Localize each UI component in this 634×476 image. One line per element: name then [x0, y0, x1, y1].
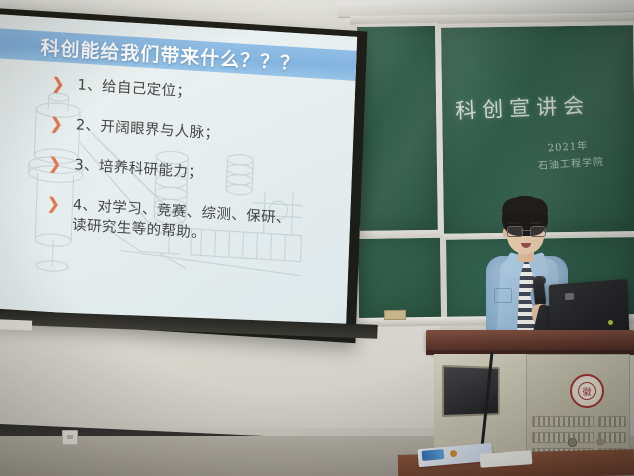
- chalk-subtext-year: 2021年: [547, 137, 588, 155]
- podium-top-surface: [426, 330, 634, 352]
- jacket-pocket-left: [494, 288, 512, 303]
- blackboard-sheen: [357, 26, 438, 231]
- slide-bullet-item: ❯ 3、培养科研能力；: [48, 154, 348, 193]
- desk-paper-accent: [422, 449, 445, 461]
- projection-screen-surface: 科创能给我们带来什么？？？ ❯ 1、给自己定位； ❯ 2、开阔眼界与人脉； ❯ …: [0, 14, 357, 330]
- chevron-right-icon: ❯: [48, 156, 62, 173]
- classroom-photo: 科创宣讲会 2021年 石油工程学院: [0, 0, 634, 476]
- slide-title: 科创能给我们带来什么？？？: [40, 32, 301, 75]
- chevron-right-icon: ❯: [51, 76, 65, 93]
- hair-fringe: [502, 198, 548, 215]
- blackboard-panel-lower-left: [355, 235, 444, 322]
- emblem-inner-glyph: 徽: [578, 382, 596, 400]
- podium-vent: [598, 416, 626, 427]
- podium-handle-icon: [596, 438, 604, 446]
- blackboard-panel-left: [354, 23, 441, 234]
- podium-lock-icon: [568, 438, 577, 447]
- eyebrow-left: [508, 222, 520, 224]
- projection-screen: 科创能给我们带来什么？？？ ❯ 1、给自己定位； ❯ 2、开阔眼界与人脉； ❯ …: [0, 8, 367, 343]
- university-emblem-icon: 徽: [570, 374, 604, 408]
- glasses-lens-left: [507, 226, 523, 237]
- presentation-slide: 科创能给我们带来什么？？？ ❯ 1、给自己定位； ❯ 2、开阔眼界与人脉； ❯ …: [0, 14, 357, 330]
- glasses-bridge: [521, 230, 530, 231]
- power-outlet-icon: [62, 430, 78, 445]
- slide-bullet-text: 4、对学习、竞赛、综测、保研、读研究生等的帮助。: [72, 195, 305, 250]
- screen-roller-end-cap: [0, 319, 32, 330]
- chevron-right-icon: ❯: [46, 196, 60, 213]
- slide-bullet-list: ❯ 1、给自己定位； ❯ 2、开阔眼界与人脉； ❯ 3、培养科研能力； ❯ 4、…: [45, 74, 351, 273]
- podium-vent: [532, 416, 594, 427]
- glasses-lens-right: [530, 226, 546, 237]
- slide-bullet-item: ❯ 4、对学习、竞赛、综测、保研、读研究生等的帮助。: [45, 194, 346, 253]
- slide-bullet-text: 3、培养科研能力；: [74, 155, 203, 183]
- slide-bullet-item: ❯ 2、开阔眼界与人脉；: [49, 114, 349, 153]
- chalk-eraser-icon: [384, 310, 406, 320]
- slide-bullet-text: 2、开阔眼界与人脉；: [76, 115, 220, 144]
- glasses-icon: [507, 226, 545, 235]
- chevron-right-icon: ❯: [49, 116, 63, 133]
- eyebrow-right: [530, 222, 542, 224]
- laptop-logo: [565, 293, 574, 300]
- laptop-indicator-light: [608, 320, 613, 325]
- podium-vent: [532, 432, 594, 443]
